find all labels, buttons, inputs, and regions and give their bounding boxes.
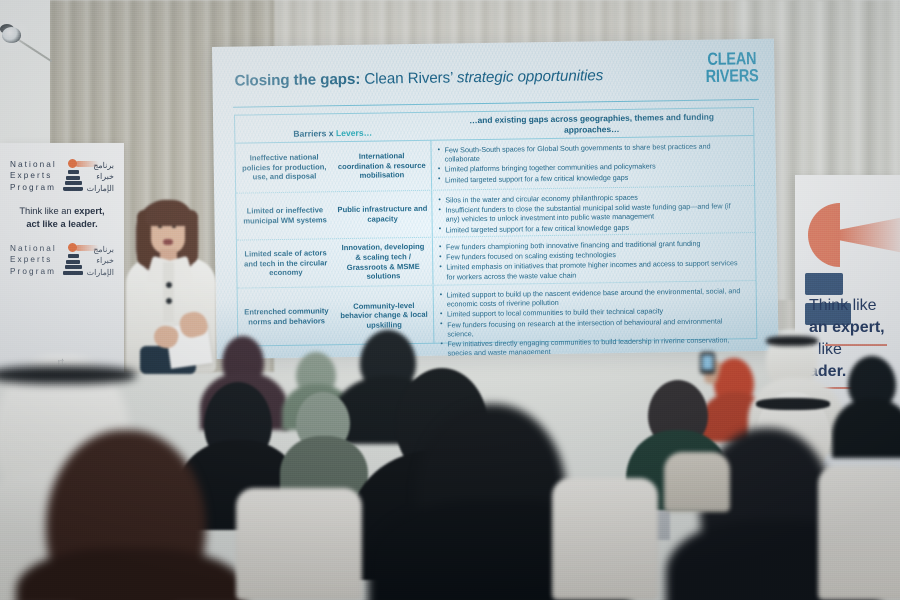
tagline-light-left: Think like an [19, 206, 74, 216]
slide-title-bold: Closing the gaps: [234, 71, 360, 90]
nep-beacon-icon-2 [62, 243, 84, 279]
chair [236, 488, 362, 600]
banner-national-experts-program-left: National Experts Program برنامج خبراء ال… [0, 143, 124, 373]
cell-gaps: Silos in the water and circular economy … [431, 186, 755, 237]
chair [664, 452, 730, 512]
cell-barrier: Entrenched community norms and behaviors [238, 287, 336, 346]
slide-content: Closing the gaps: Clean Rivers’ strategi… [212, 39, 779, 359]
table-row: Limited or ineffective municipal WM syst… [236, 186, 755, 241]
nep2-en-line-3: Program [10, 266, 57, 277]
table-row: Limited scale of actors and tech in the … [237, 233, 756, 289]
tagline-left-line2: act like a leader. [0, 218, 124, 231]
wall-lamp-icon [2, 27, 21, 43]
nep-beacon-icon-large [808, 203, 900, 267]
nep-lockup-top: National Experts Program برنامج خبراء ال… [10, 159, 114, 193]
cell-lever: Innovation, developing & scaling tech / … [334, 238, 433, 286]
cell-lever: Public infrastructure and capacity [333, 191, 432, 238]
cell-gaps: Few South-South spaces for Global South … [430, 136, 754, 190]
header-barriers: Barriers [293, 128, 326, 138]
projection-screen: Closing the gaps: Clean Rivers’ strategi… [212, 39, 779, 359]
nep-beacon-icon [62, 159, 84, 195]
chair [552, 478, 658, 600]
title-divider [233, 99, 759, 108]
nep2-en-line-2: Experts [10, 254, 57, 265]
clean-rivers-logo: CLEAN RIVERS [705, 52, 758, 86]
table-row: Ineffective national policies for produc… [235, 136, 754, 194]
gaps-table: Barriers x Levers… …and existing gaps ac… [234, 107, 757, 347]
nep-en-line-3: Program [10, 182, 57, 193]
gap-item: Limited emphasis on initiatives that pro… [439, 258, 747, 281]
table-row: Entrenched community norms and behaviors… [238, 281, 757, 347]
nep2-en-line-1: National [10, 243, 57, 254]
tagline-bold-left: expert, [74, 206, 105, 216]
table-header-gaps: …and existing gaps across geographies, t… [430, 108, 753, 140]
nep-lockup-bottom: National Experts Program برنامج خبراء ال… [10, 243, 114, 277]
presentation-photo-scene: National Experts Program برنامج خبراء ال… [0, 0, 900, 600]
table-header-barriers-levers: Barriers x Levers… [235, 113, 430, 143]
chair [818, 466, 900, 600]
cell-barrier: Limited or ineffective municipal WM syst… [236, 192, 334, 239]
cell-gaps: Few funders championing both innovative … [432, 233, 756, 285]
slide-title-regular: Clean Rivers’ [364, 69, 453, 87]
nep-en-line-1: National [10, 159, 57, 170]
cell-barrier: Ineffective national policies for produc… [235, 142, 333, 192]
slide-title: Closing the gaps: Clean Rivers’ strategi… [234, 67, 603, 89]
nep-en-line-2: Experts [10, 170, 57, 181]
br-line1: Think like [809, 295, 900, 317]
br-line2: an expert, [809, 319, 885, 336]
slide-title-italic: strategic opportunities [457, 67, 604, 86]
br-line3: t like [809, 339, 900, 361]
header-x: x [329, 128, 334, 138]
phone-screen [702, 355, 713, 370]
cell-lever: International coordination & resource mo… [332, 141, 431, 191]
logo-line-2: RIVERS [706, 68, 759, 85]
header-levers: Levers… [336, 128, 372, 139]
presenter-speaker [118, 196, 226, 371]
cell-gaps: Limited support to build up the nascent … [433, 281, 757, 344]
cell-barrier: Limited scale of actors and tech in the … [237, 239, 335, 287]
banner-left-tagline: Think like an expert, act like a leader. [0, 205, 124, 231]
